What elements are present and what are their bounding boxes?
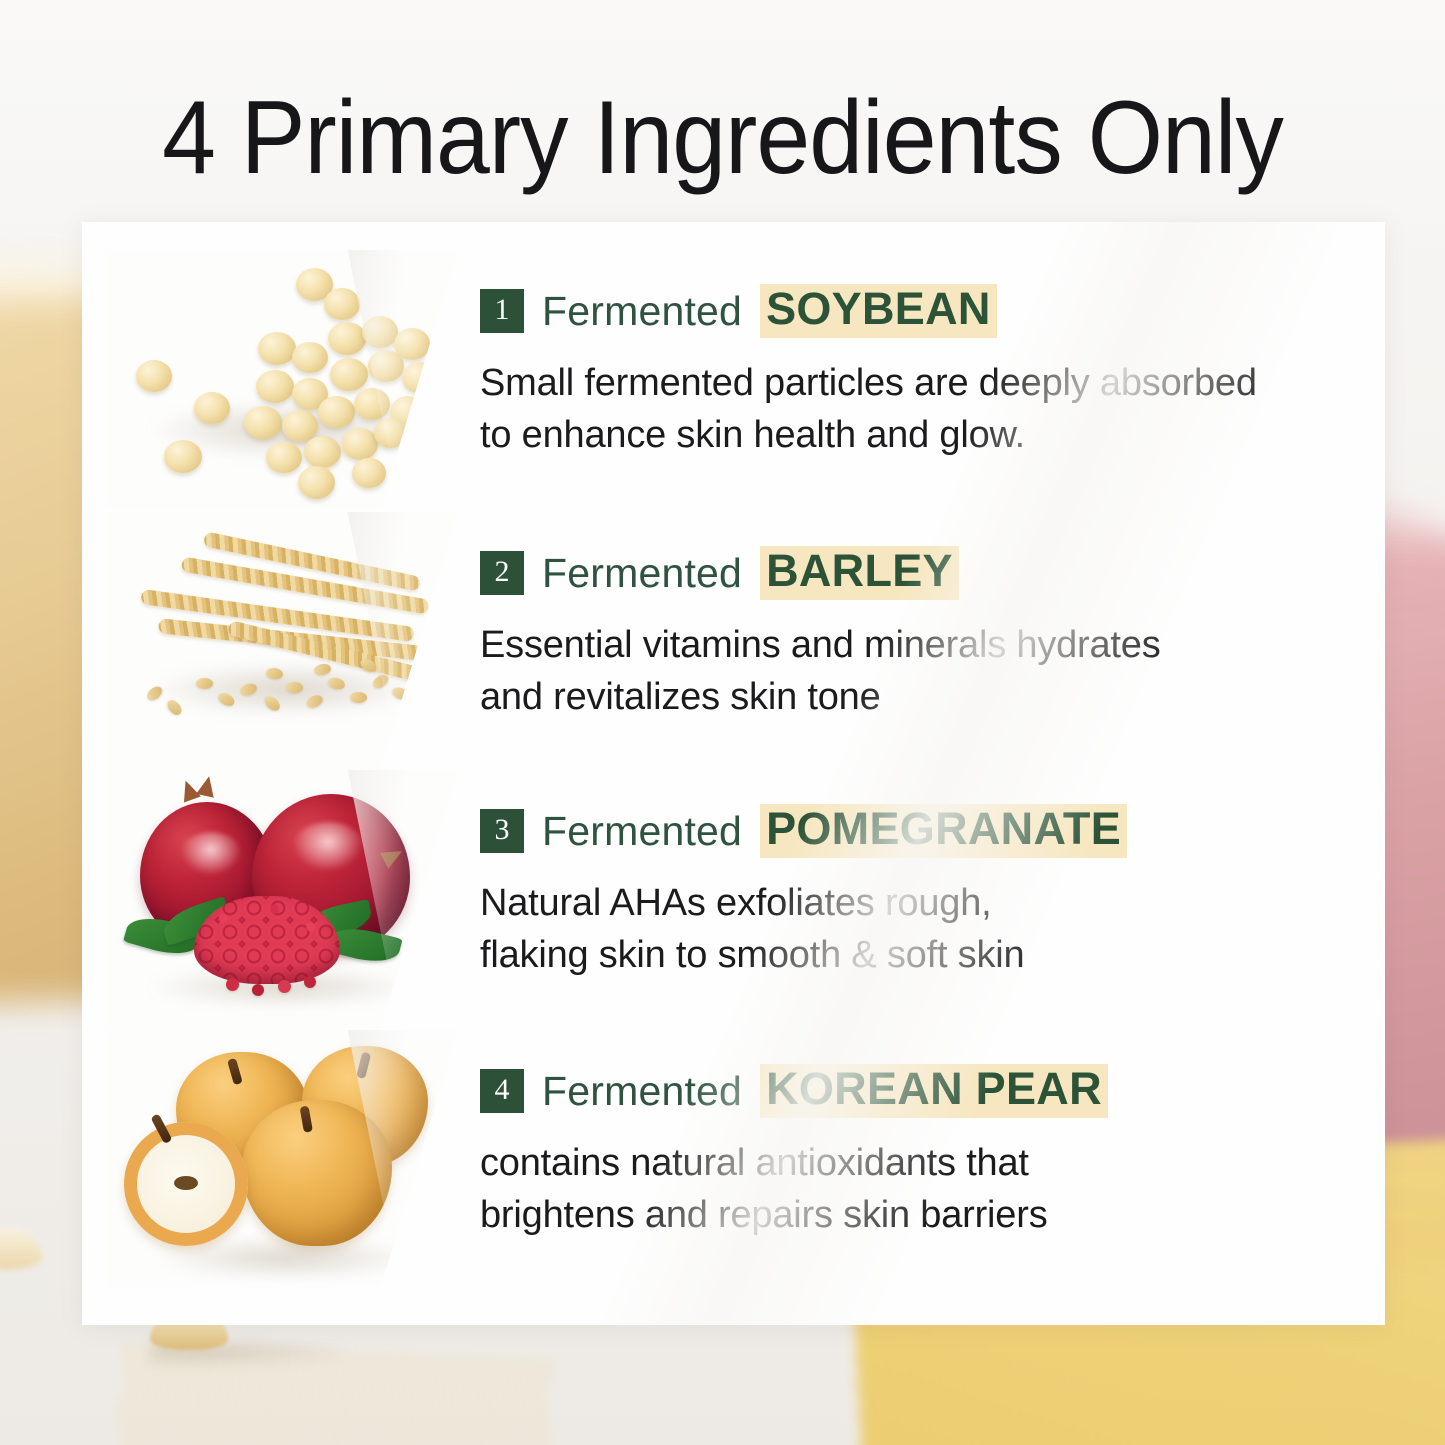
ingredient-number-badge: 2 — [480, 551, 524, 595]
ingredient-description: Essential vitamins and minerals hydrates… — [480, 620, 1360, 723]
korean-pear-headline: 4 Fermented KOREAN PEAR — [480, 1064, 1360, 1118]
page-title: 4 Primary Ingredients Only — [51, 86, 1395, 190]
ingredient-name: BARLEY — [760, 546, 959, 600]
ingredient-row-pomegranate: 3 Fermented POMEGRANATE Natural AHAs exf… — [82, 770, 1385, 1028]
description-line-2: to enhance skin health and glow. — [480, 410, 1360, 462]
description-line-2: and revitalizes skin tone — [480, 672, 1360, 724]
ingredient-description: contains natural antioxidants that brigh… — [480, 1138, 1360, 1241]
ingredient-row-soybean: 1 Fermented SOYBEAN Small fermented part… — [82, 250, 1385, 508]
ingredient-name: KOREAN PEAR — [760, 1064, 1108, 1118]
ingredient-description: Small fermented particles are deeply abs… — [480, 358, 1360, 461]
description-line-1: Natural AHAs exfoliates rough, — [480, 878, 1360, 930]
description-line-1: contains natural antioxidants that — [480, 1138, 1360, 1190]
soybean-text-block: 1 Fermented SOYBEAN Small fermented part… — [480, 284, 1360, 461]
pomegranate-headline: 3 Fermented POMEGRANATE — [480, 804, 1360, 858]
infographic-stage: 4 Primary Ingredients Only — [0, 0, 1445, 1445]
description-line-2: brightens and repairs skin barriers — [480, 1190, 1360, 1242]
ingredient-number-badge: 4 — [480, 1069, 524, 1113]
ingredient-label: Fermented — [542, 291, 742, 332]
soybean-photo — [106, 250, 458, 508]
ingredient-label: Fermented — [542, 1071, 742, 1112]
description-line-1: Essential vitamins and minerals hydrates — [480, 620, 1360, 672]
barley-text-block: 2 Fermented BARLEY Essential vitamins an… — [480, 546, 1360, 723]
ingredient-description: Natural AHAs exfoliates rough, flaking s… — [480, 878, 1360, 981]
ingredient-row-barley: 2 Fermented BARLEY Essential vitamins an… — [82, 512, 1385, 770]
barley-headline: 2 Fermented BARLEY — [480, 546, 1360, 600]
pomegranate-text-block: 3 Fermented POMEGRANATE Natural AHAs exf… — [480, 804, 1360, 981]
ingredient-row-korean-pear: 4 Fermented KOREAN PEAR contains natural… — [82, 1030, 1385, 1288]
pomegranate-photo — [106, 770, 458, 1028]
ingredient-number-badge: 1 — [480, 289, 524, 333]
barley-photo — [106, 512, 458, 770]
ingredient-number-badge: 3 — [480, 809, 524, 853]
ingredients-card: 1 Fermented SOYBEAN Small fermented part… — [82, 222, 1385, 1325]
korean-pear-text-block: 4 Fermented KOREAN PEAR contains natural… — [480, 1064, 1360, 1241]
ingredient-label: Fermented — [542, 811, 742, 852]
ingredient-name: POMEGRANATE — [760, 804, 1127, 858]
soybean-headline: 1 Fermented SOYBEAN — [480, 284, 1360, 338]
ingredient-label: Fermented — [542, 553, 742, 594]
description-line-1: Small fermented particles are deeply abs… — [480, 358, 1360, 410]
korean-pear-photo — [106, 1030, 458, 1288]
ingredient-name: SOYBEAN — [760, 284, 997, 338]
description-line-2: flaking skin to smooth & soft skin — [480, 930, 1360, 982]
